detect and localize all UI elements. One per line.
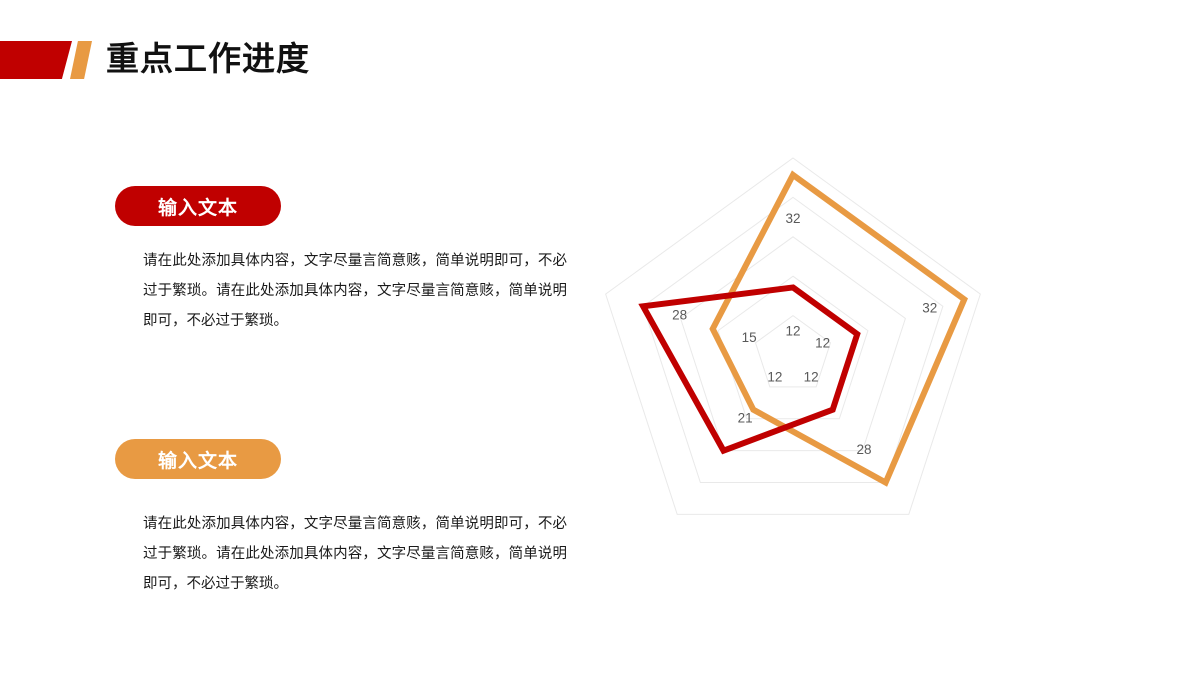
page-header: 重点工作进度	[0, 0, 1200, 120]
block-1-body-text: 请在此处添加具体内容，文字尽量言简意赅，简单说明即可，不必过于繁琐。请在此处添加…	[143, 246, 567, 336]
radar-point-label: 12	[815, 335, 830, 350]
text-block-2: 输入文本 请在此处添加具体内容，文字尽量言简意赅，简单说明即可，不必过于繁琐。请…	[115, 439, 575, 599]
radar-grid-ring	[718, 276, 868, 419]
block-2-pill-button[interactable]: 输入文本	[115, 439, 281, 479]
page-title: 重点工作进度	[106, 36, 310, 82]
radar-point-label: 12	[804, 369, 819, 384]
block-2-body-text: 请在此处添加具体内容，文字尽量言简意赅，简单说明即可，不必过于繁琐。请在此处添加…	[143, 509, 567, 599]
radar-point-label: 28	[672, 308, 687, 323]
radar-series-group	[643, 175, 964, 483]
block-2-pill-label: 输入文本	[158, 446, 238, 473]
radar-point-label: 32	[785, 211, 800, 226]
radar-chart: 32322812151212122128	[580, 130, 1010, 550]
radar-point-label: 12	[767, 369, 782, 384]
radar-series-1	[713, 175, 965, 483]
block-1-pill-button[interactable]: 输入文本	[115, 186, 281, 226]
radar-point-label: 12	[785, 324, 800, 339]
header-red-accent-bar	[0, 41, 72, 79]
radar-point-label: 28	[856, 442, 871, 457]
header-orange-slash-accent	[70, 41, 92, 79]
radar-point-label: 15	[742, 330, 757, 345]
text-block-1: 输入文本 请在此处添加具体内容，文字尽量言简意赅，简单说明即可，不必过于繁琐。请…	[115, 186, 575, 336]
radar-point-label: 21	[738, 410, 753, 425]
radar-point-label: 32	[922, 301, 937, 316]
block-1-pill-label: 输入文本	[158, 193, 238, 220]
content-left-column: 输入文本 请在此处添加具体内容，文字尽量言简意赅，简单说明即可，不必过于繁琐。请…	[115, 186, 575, 623]
